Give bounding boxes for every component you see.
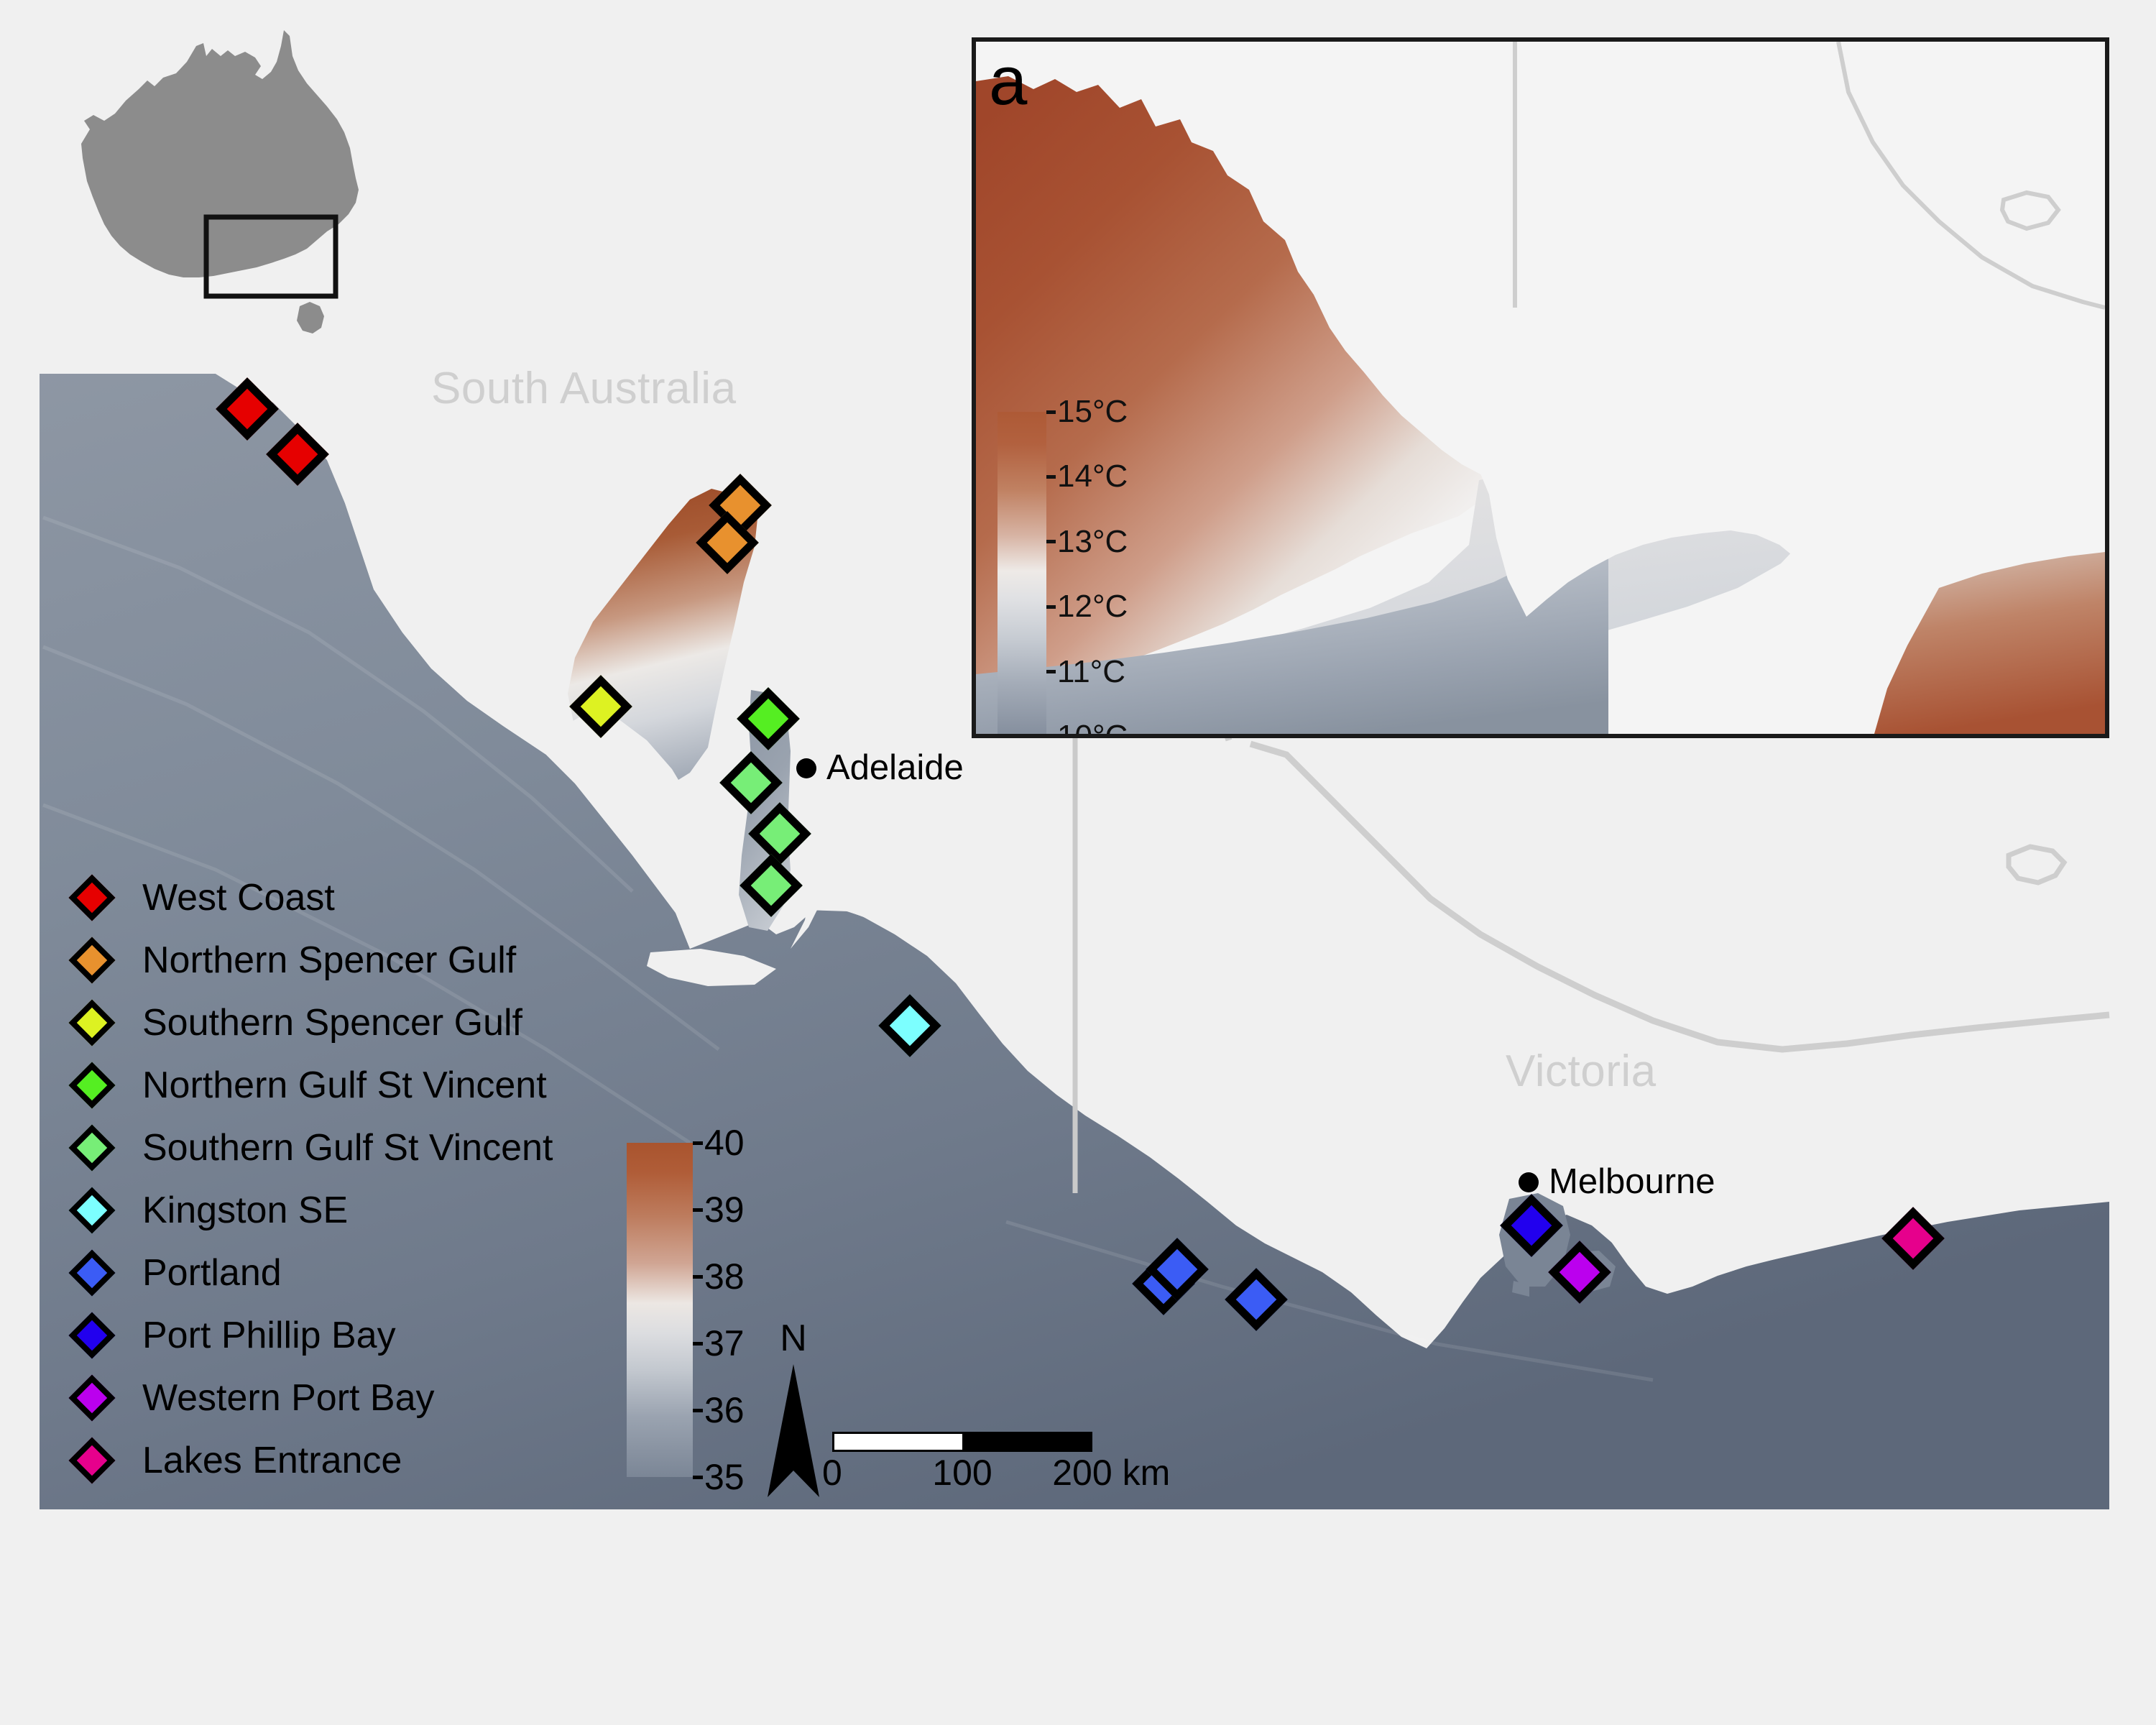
latitude-colorbar-gradient: 403938373635 xyxy=(627,1143,693,1477)
scale-bar: 0100200 km xyxy=(832,1432,1092,1495)
legend-diamond-icon xyxy=(68,1437,115,1483)
temperature-tick-mark xyxy=(1046,670,1056,673)
australia-locator-inset xyxy=(40,14,384,374)
latitude-tick-mark xyxy=(693,1208,703,1212)
legend-item-label: Kingston SE xyxy=(142,1192,348,1229)
temperature-colorbar: 15°C14°C13°C12°C11°C10°C xyxy=(998,412,1046,737)
city-marker-adelaide: Adelaide xyxy=(796,750,964,786)
temperature-tick: 10°C xyxy=(1046,721,1128,738)
legend-item-kingston-se[interactable]: Kingston SE xyxy=(63,1179,553,1241)
temperature-tick-label: 14°C xyxy=(1057,461,1128,492)
temperature-tick: 11°C xyxy=(1046,656,1125,688)
legend-diamond-icon xyxy=(68,874,115,921)
scale-bar-track xyxy=(832,1432,1092,1452)
legend-diamond-icon xyxy=(68,1187,115,1233)
temperature-tick-label: 15°C xyxy=(1057,396,1128,428)
temperature-tick-label: 13°C xyxy=(1057,526,1128,558)
latitude-tick-label: 39 xyxy=(704,1192,745,1228)
temperature-tick-label: 11°C xyxy=(1057,656,1125,688)
legend-item-portland[interactable]: Portland xyxy=(63,1241,553,1304)
temperature-tick: 15°C xyxy=(1046,396,1128,428)
latitude-tick: 40 xyxy=(693,1125,745,1161)
scale-segment-white xyxy=(834,1434,962,1450)
latitude-tick: 39 xyxy=(693,1192,745,1228)
legend-diamond-icon xyxy=(68,937,115,983)
latitude-tick: 35 xyxy=(693,1459,745,1495)
legend-diamond-icon xyxy=(68,999,115,1046)
latitude-tick-mark xyxy=(693,1342,703,1345)
temperature-tick-label: 10°C xyxy=(1057,721,1128,738)
legend-item-label: Portland xyxy=(142,1254,282,1292)
legend-item-northern-gulf-st-vincent[interactable]: Northern Gulf St Vincent xyxy=(63,1054,553,1116)
legend-diamond-icon xyxy=(68,1249,115,1296)
temperature-tick-mark xyxy=(1046,410,1056,414)
temperature-tick: 14°C xyxy=(1046,461,1128,492)
temperature-tick-mark xyxy=(1046,475,1056,479)
latitude-colorbar: 403938373635 xyxy=(627,1143,693,1477)
legend-item-port-phillip-bay[interactable]: Port Phillip Bay xyxy=(63,1304,553,1366)
legend-item-west-coast[interactable]: West Coast xyxy=(63,866,553,929)
legend-item-lakes-entrance[interactable]: Lakes Entrance xyxy=(63,1429,553,1491)
latitude-tick-mark xyxy=(693,1409,703,1412)
legend-item-label: Northern Spencer Gulf xyxy=(142,942,516,979)
legend-item-label: Port Phillip Bay xyxy=(142,1317,396,1354)
temperature-tick-mark xyxy=(1046,540,1056,543)
north-arrow-icon xyxy=(768,1364,819,1497)
temperature-tick: 13°C xyxy=(1046,526,1128,558)
scale-segment-black xyxy=(962,1434,1090,1450)
legend-item-western-port-bay[interactable]: Western Port Bay xyxy=(63,1366,553,1429)
legend-item-label: Lakes Entrance xyxy=(142,1442,402,1479)
scale-bar-label: 200 km xyxy=(1052,1455,1170,1491)
temperature-tick-mark xyxy=(1046,605,1056,609)
latitude-tick-label: 36 xyxy=(704,1392,745,1428)
north-arrow-label: N xyxy=(780,1320,807,1357)
temperature-colorbar-gradient: 15°C14°C13°C12°C11°C10°C xyxy=(998,412,1046,737)
city-label-melbourne: Melbourne xyxy=(1549,1164,1715,1200)
latitude-tick-label: 37 xyxy=(704,1325,745,1361)
temperature-tick-mark xyxy=(1046,735,1056,739)
state-label-victoria: Victoria xyxy=(1506,1046,1657,1097)
city-marker-melbourne: Melbourne xyxy=(1519,1164,1715,1200)
scale-bar-label: 0 xyxy=(822,1455,842,1491)
latitude-tick: 36 xyxy=(693,1392,745,1428)
panel-label-a: a xyxy=(989,43,1027,119)
legend-diamond-icon xyxy=(68,1312,115,1358)
latitude-tick-mark xyxy=(693,1275,703,1279)
legend-item-label: Southern Gulf St Vincent xyxy=(142,1129,553,1167)
temperature-tick-label: 12°C xyxy=(1057,591,1128,622)
legend-item-label: West Coast xyxy=(142,879,335,916)
legend-item-label: Southern Spencer Gulf xyxy=(142,1004,522,1041)
legend-item-southern-spencer-gulf[interactable]: Southern Spencer Gulf xyxy=(63,991,553,1054)
panel-a-graphic xyxy=(976,42,2105,734)
latitude-tick-mark xyxy=(693,1476,703,1479)
latitude-tick: 38 xyxy=(693,1259,745,1294)
latitude-tick-mark xyxy=(693,1141,703,1145)
city-dot-icon xyxy=(1519,1172,1539,1192)
legend-item-northern-spencer-gulf[interactable]: Northern Spencer Gulf xyxy=(63,929,553,991)
legend-diamond-icon xyxy=(68,1062,115,1108)
site-legend: West CoastNorthern Spencer GulfSouthern … xyxy=(63,866,553,1491)
figure-root: South Australia Victoria Adelaide Melbou… xyxy=(0,0,2156,1725)
latitude-tick-label: 40 xyxy=(704,1125,745,1161)
scale-bar-labels: 0100200 km xyxy=(832,1455,1092,1495)
legend-item-southern-gulf-st-vincent[interactable]: Southern Gulf St Vincent xyxy=(63,1116,553,1179)
legend-item-label: Western Port Bay xyxy=(142,1379,435,1417)
legend-diamond-icon xyxy=(68,1374,115,1421)
latitude-tick-label: 35 xyxy=(704,1459,745,1495)
australia-locator-graphic xyxy=(40,14,384,374)
scale-bar-label: 100 xyxy=(932,1455,992,1491)
panel-a-sst-map[interactable]: a xyxy=(972,37,2109,738)
legend-diamond-icon xyxy=(68,1124,115,1171)
city-dot-icon xyxy=(796,758,816,778)
city-label-adelaide: Adelaide xyxy=(826,750,964,786)
latitude-tick-label: 38 xyxy=(704,1259,745,1294)
temperature-tick: 12°C xyxy=(1046,591,1128,622)
state-label-south-australia: South Australia xyxy=(431,363,737,414)
latitude-tick: 37 xyxy=(693,1325,745,1361)
legend-item-label: Northern Gulf St Vincent xyxy=(142,1067,547,1104)
north-arrow: N xyxy=(768,1364,819,1497)
